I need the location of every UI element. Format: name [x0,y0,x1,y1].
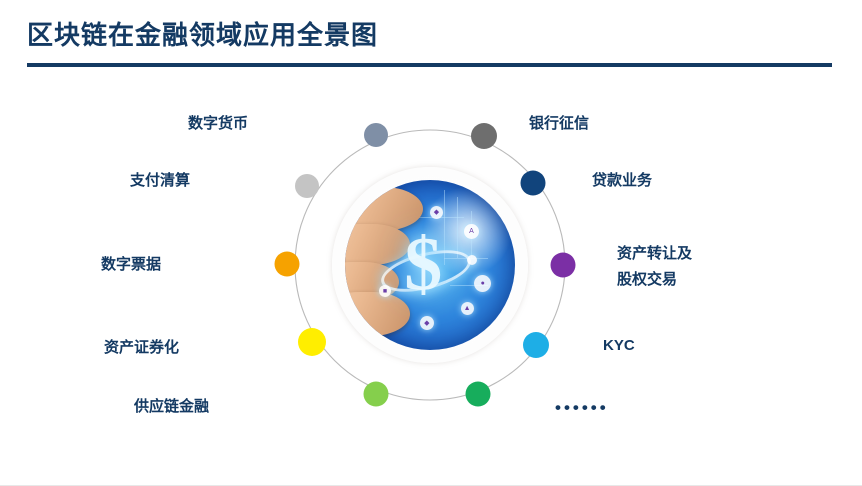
title-block: 区块链在金融领域应用全景图 [27,18,832,68]
orbit-node-label-bank-credit: 银行征信 [529,113,589,134]
orbit-node-label-supply-chain: 供应链金融 [134,396,209,417]
node-bubble-icon: A [464,224,479,239]
dollar-symbol: $ [404,222,442,309]
orbit-node-dot-kyc[interactable] [523,332,549,358]
center-photo-outer-ring: $ ◆ A ● ▲ ◆ ■ [332,167,528,363]
orbit-node-dot-bank-credit[interactable] [471,123,497,149]
orbit-node-label-payment-clearing: 支付清算 [130,170,190,191]
radial-orbit-diagram: $ ◆ A ● ▲ ◆ ■ 数字货币银行征信支付清算贷款业务数字票据资产转让及股… [0,78,862,478]
node-bubble-icon: ◆ [420,316,434,330]
orbit-node-label-asset-transfer-2: 股权交易 [617,269,677,290]
title-underline-rule [27,63,832,67]
slide-canvas: 区块链在金融领域应用全景图 $ ◆ A [0,0,862,486]
orbit-node-dot-payment-clearing[interactable] [295,174,319,198]
orbit-node-label-loan-business: 贷款业务 [592,170,652,191]
node-bubble-icon [467,255,477,265]
orbit-node-dot-securitization[interactable] [298,328,326,356]
orbit-node-dot-digital-currency[interactable] [364,123,388,147]
orbit-node-label-digital-bills: 数字票据 [101,254,161,275]
orbit-node-label-securitization: 资产证券化 [104,337,179,358]
more-items-ellipsis: •••••• [555,398,609,418]
node-bubble-icon: ▲ [461,302,474,315]
orbit-node-dot-supply-chain[interactable] [364,382,389,407]
page-title: 区块链在金融领域应用全景图 [27,18,832,52]
orbit-node-label-asset-transfer: 资产转让及 [617,243,692,264]
orbit-node-label-kyc: KYC [603,335,635,356]
orbit-node-dot-more[interactable] [466,382,491,407]
orbit-node-dot-digital-bills[interactable] [275,252,300,277]
node-bubble-icon: ● [474,275,491,292]
center-photo-blockchain-finance: $ ◆ A ● ▲ ◆ ■ [345,180,515,350]
node-bubble-icon: ◆ [430,206,443,219]
orbit-node-dot-asset-transfer[interactable] [551,253,576,278]
orbit-node-label-digital-currency: 数字货币 [188,113,248,134]
orbit-node-dot-loan-business[interactable] [521,171,546,196]
